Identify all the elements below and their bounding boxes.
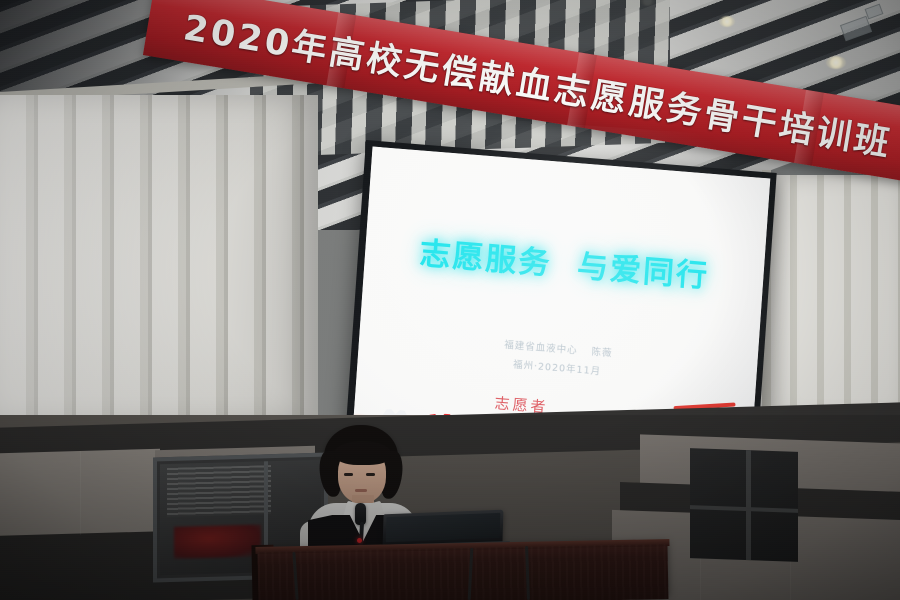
lecture-hall-photo: 2020年高校无偿献血志愿服务骨干培训班 志愿服务与爱同行 福建省血液中心陈薇 … [0, 0, 900, 600]
window-mullion [690, 505, 798, 513]
window-blinds [167, 465, 271, 517]
left-fluted-wall [0, 95, 318, 425]
eye-right [366, 473, 375, 476]
podium-wood-grain [258, 544, 669, 600]
tile-seam [80, 451, 81, 535]
left-wall-sheen [0, 95, 318, 425]
right-fluted-wall [770, 175, 900, 420]
slide-presenter-name: 陈薇 [591, 346, 613, 359]
window-mullion [746, 450, 751, 560]
laptop-screen [386, 513, 501, 542]
eye-left [344, 473, 353, 476]
hair-fringe [334, 441, 391, 465]
podium [258, 544, 669, 600]
window-interior-object [174, 524, 261, 559]
ceiling-downlight [719, 16, 735, 27]
microphone-indicator-light [357, 538, 362, 543]
mouth [355, 489, 367, 492]
ceiling-downlight [826, 56, 846, 69]
right-window [690, 448, 798, 562]
